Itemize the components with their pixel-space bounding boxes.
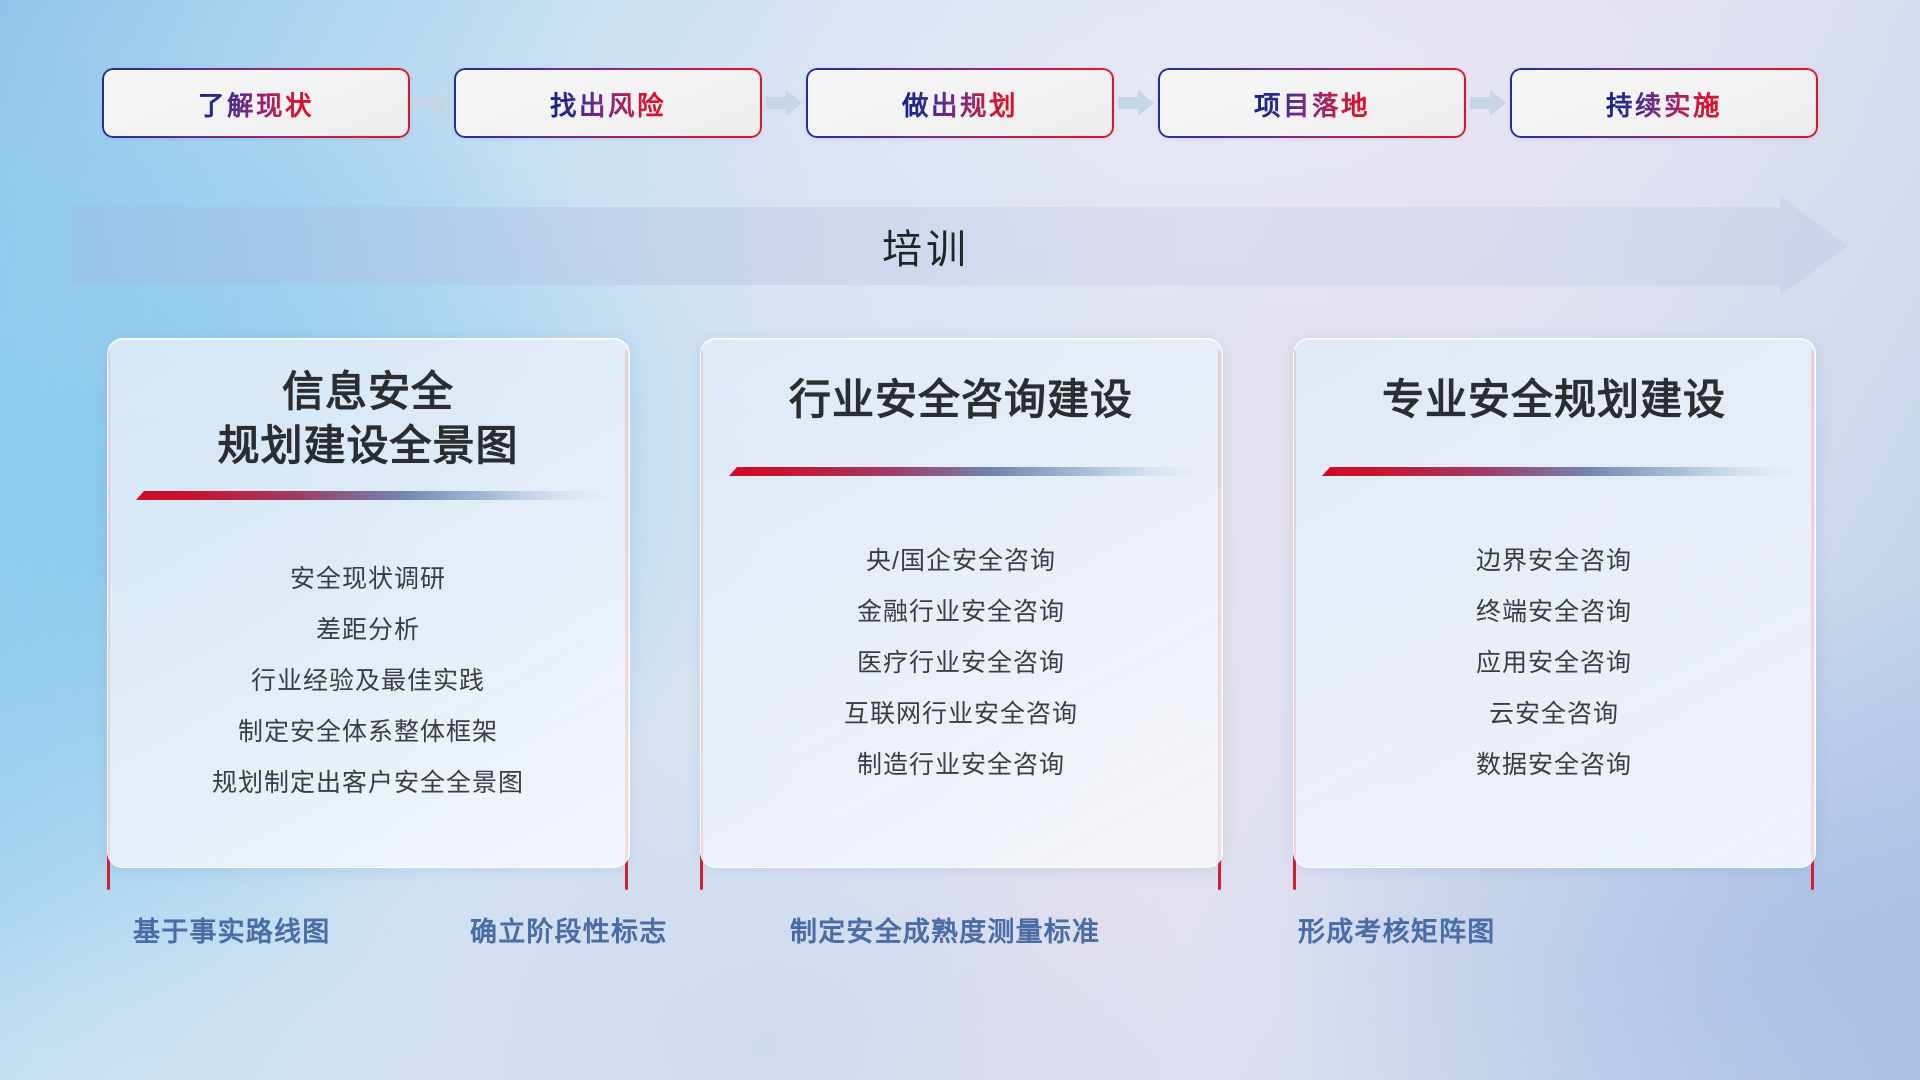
card-list-item[interactable]: 规划制定出客户安全全景图 (108, 771, 629, 796)
card-item-list: 央/国企安全咨询金融行业安全咨询医疗行业安全咨询互联网行业安全咨询制造行业安全咨… (701, 549, 1222, 804)
card-accent-line (1320, 467, 1799, 480)
arrow-right-icon (1466, 68, 1510, 138)
card-title-line: 规划建设全景图 (108, 419, 629, 473)
step-label: 了解现状 (198, 84, 314, 123)
card-list-item[interactable]: 央/国企安全咨询 (701, 549, 1222, 574)
arrow-right-icon (1114, 68, 1158, 138)
card-list-item[interactable]: 安全现状调研 (108, 567, 629, 592)
bottom-label-2: 确立阶段性标志 (470, 910, 667, 949)
card-list-item[interactable]: 医疗行业安全咨询 (701, 651, 1222, 676)
card-title: 信息安全规划建设全景图 (108, 365, 629, 473)
card-list-item[interactable]: 边界安全咨询 (1294, 549, 1815, 574)
card-row: 信息安全规划建设全景图安全现状调研差距分析行业经验及最佳实践制定安全体系整体框架… (0, 338, 1920, 890)
card-title-line: 专业安全规划建设 (1294, 373, 1815, 427)
step-label: 项目落地 (1254, 84, 1370, 123)
bottom-label-row: 基于事实路线图确立阶段性标志制定安全成熟度测量标准形成考核矩阵图 (0, 910, 1920, 980)
process-step-row: 了解现状找出风险做出规划项目落地持续实施 (0, 62, 1920, 144)
card-list-item[interactable]: 行业经验及最佳实践 (108, 669, 629, 694)
card-list-item[interactable]: 互联网行业安全咨询 (701, 702, 1222, 727)
step-box-5[interactable]: 持续实施 (1510, 68, 1818, 138)
card-list-item[interactable]: 应用安全咨询 (1294, 651, 1815, 676)
card-list-item[interactable]: 数据安全咨询 (1294, 753, 1815, 778)
card-accent-line (134, 491, 613, 504)
step-box-1[interactable]: 了解现状 (102, 68, 410, 138)
bottom-label-1: 基于事实路线图 (133, 910, 330, 949)
step-label: 持续实施 (1606, 84, 1722, 123)
service-card-1[interactable]: 信息安全规划建设全景图安全现状调研差距分析行业经验及最佳实践制定安全体系整体框架… (101, 338, 634, 890)
training-banner-arrow-tip-icon (1780, 196, 1848, 296)
step-label: 找出风险 (550, 84, 666, 123)
card-title: 专业安全规划建设 (1294, 373, 1815, 427)
training-banner-title: 培训 (72, 207, 1780, 285)
bottom-label-4: 形成考核矩阵图 (1298, 910, 1495, 949)
card-accent-line (727, 467, 1206, 480)
card-panel: 信息安全规划建设全景图安全现状调研差距分析行业经验及最佳实践制定安全体系整体框架… (107, 338, 630, 868)
card-list-item[interactable]: 云安全咨询 (1294, 702, 1815, 727)
step-box-2[interactable]: 找出风险 (454, 68, 762, 138)
card-list-item[interactable]: 差距分析 (108, 618, 629, 643)
service-card-2[interactable]: 行业安全咨询建设央/国企安全咨询金融行业安全咨询医疗行业安全咨询互联网行业安全咨… (694, 338, 1227, 890)
arrow-right-icon (410, 68, 454, 138)
card-title-line: 行业安全咨询建设 (701, 373, 1222, 427)
card-item-list: 边界安全咨询终端安全咨询应用安全咨询云安全咨询数据安全咨询 (1294, 549, 1815, 804)
card-title-line: 信息安全 (108, 365, 629, 419)
card-title: 行业安全咨询建设 (701, 373, 1222, 427)
step-label: 做出规划 (902, 84, 1018, 123)
training-banner: 培训 (72, 207, 1848, 285)
card-list-item[interactable]: 制造行业安全咨询 (701, 753, 1222, 778)
card-list-item[interactable]: 制定安全体系整体框架 (108, 720, 629, 745)
step-box-3[interactable]: 做出规划 (806, 68, 1114, 138)
step-box-4[interactable]: 项目落地 (1158, 68, 1466, 138)
card-item-list: 安全现状调研差距分析行业经验及最佳实践制定安全体系整体框架规划制定出客户安全全景… (108, 567, 629, 822)
card-list-item[interactable]: 终端安全咨询 (1294, 600, 1815, 625)
bottom-label-3: 制定安全成熟度测量标准 (790, 910, 1100, 949)
card-panel: 行业安全咨询建设央/国企安全咨询金融行业安全咨询医疗行业安全咨询互联网行业安全咨… (700, 338, 1223, 868)
service-card-3[interactable]: 专业安全规划建设边界安全咨询终端安全咨询应用安全咨询云安全咨询数据安全咨询 (1287, 338, 1820, 890)
arrow-right-icon (762, 68, 806, 138)
card-panel: 专业安全规划建设边界安全咨询终端安全咨询应用安全咨询云安全咨询数据安全咨询 (1293, 338, 1816, 868)
card-list-item[interactable]: 金融行业安全咨询 (701, 600, 1222, 625)
